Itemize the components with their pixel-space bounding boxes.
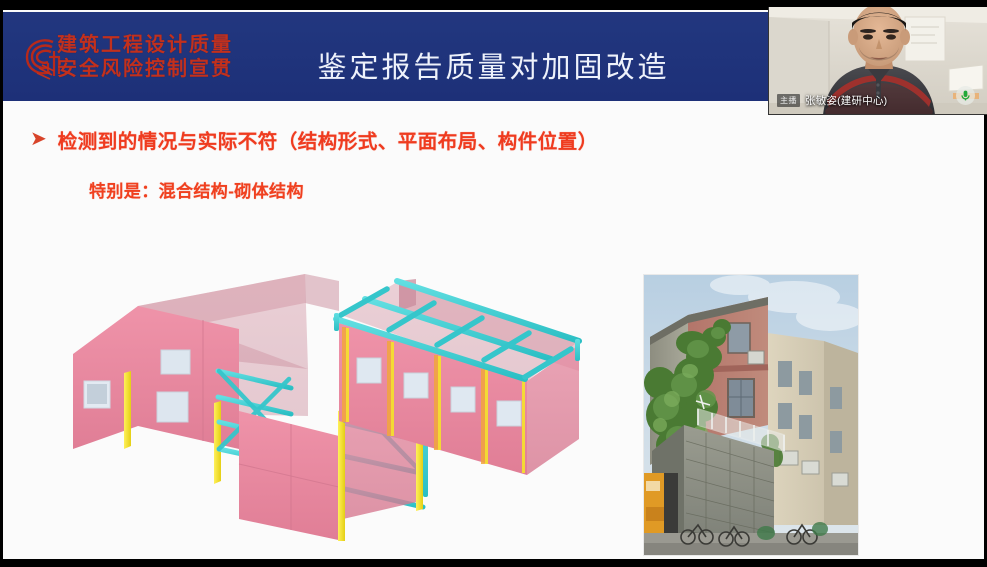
site-photo-building — [644, 275, 858, 555]
host-video-tile[interactable]: 主播 张敏姿(建研中心) — [768, 7, 987, 115]
letterbox-top-bar — [0, 0, 768, 10]
bullet-point-row: ➤ 检测到的情况与实际不符（结构形式、平面布局、构件位置） — [30, 125, 598, 154]
microphone-icon[interactable] — [956, 86, 975, 105]
sub-note-text: 特别是：混合结构-砌体结构 — [89, 177, 304, 202]
bullet-arrow-icon: ➤ — [30, 129, 47, 149]
host-name-text: 张敏姿(建研中心) — [805, 95, 887, 107]
participant-name-label: 主播 张敏姿(建研中心) — [777, 94, 887, 107]
screen-share-view: 建筑工程设计质量 安全风险控制宣贯 鉴定报告质量对加固改造 ➤ 检测到的情况与实… — [0, 0, 987, 567]
host-badge: 主播 — [777, 94, 800, 107]
structural-model-figures — [43, 251, 613, 541]
slide-body: ➤ 检测到的情况与实际不符（结构形式、平面布局、构件位置） 特别是：混合结构-砌… — [3, 101, 984, 559]
bullet-point-text: 检测到的情况与实际不符（结构形式、平面布局、构件位置） — [58, 125, 598, 154]
